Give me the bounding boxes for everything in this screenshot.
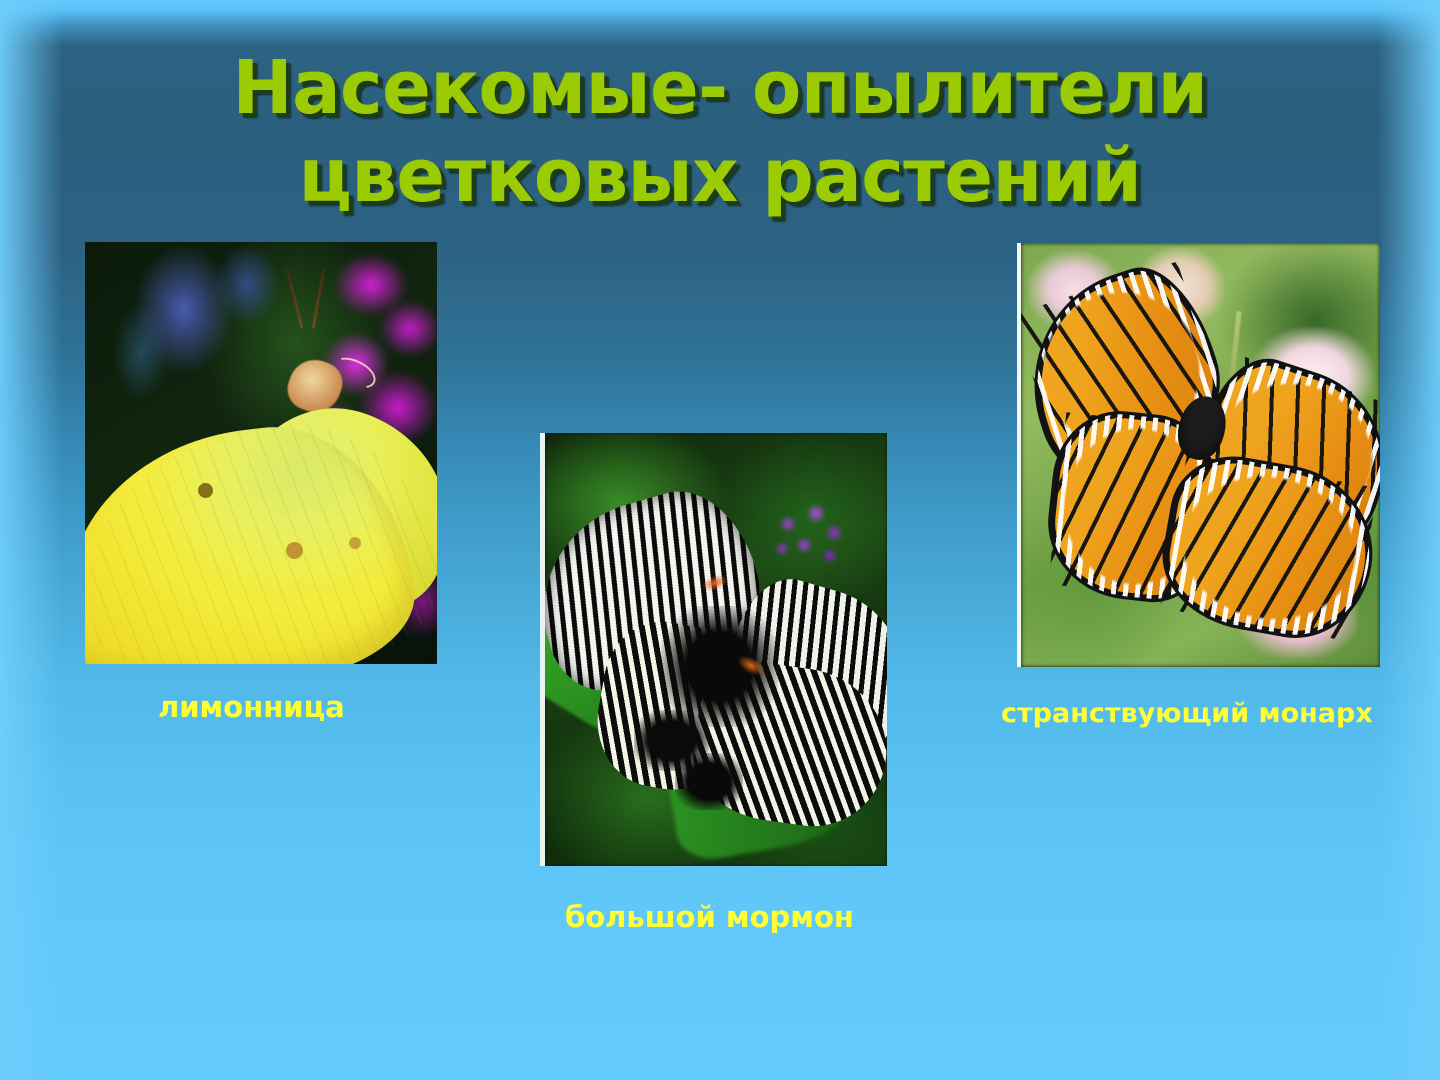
purple-flower-head	[760, 494, 860, 582]
photo-lemon-scene	[85, 242, 437, 664]
photo-mormon-scene	[545, 433, 887, 866]
wing-spot-1	[198, 483, 213, 498]
hindwing-black-patch-right	[675, 753, 743, 809]
caption-mormon: большой мормон	[565, 900, 854, 934]
wing-spot-2	[286, 542, 303, 559]
photo-monarch	[1017, 243, 1380, 667]
caption-monarch: странствующий монарх	[1001, 698, 1373, 729]
slide-canvas: Насекомые- опылители цветковых растений …	[0, 0, 1440, 1080]
photo-mormon	[540, 433, 887, 866]
title-line-1: Насекомые- опылители	[80, 44, 1360, 132]
caption-lemon: лимонница	[158, 690, 345, 724]
photo-lemon	[85, 242, 437, 664]
title-line-2: цветковых растений	[80, 132, 1360, 220]
slide-title: Насекомые- опылители цветковых растений	[0, 44, 1440, 220]
photo-monarch-scene	[1021, 243, 1380, 667]
